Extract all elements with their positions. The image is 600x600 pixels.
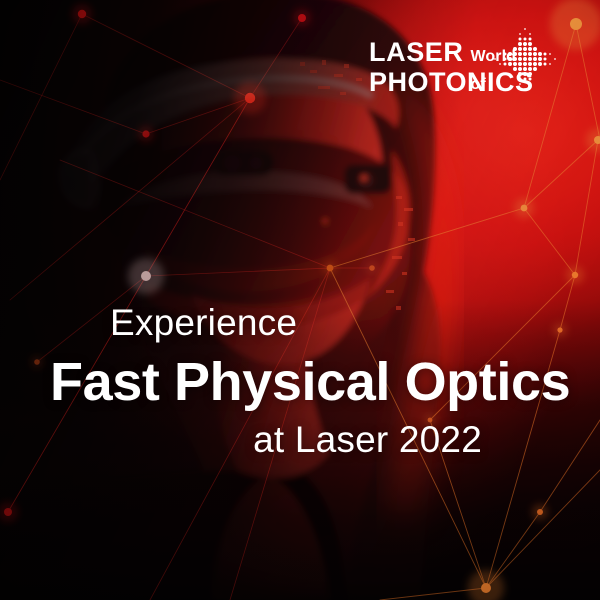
promotional-banner: LASER World of PHOTONICS Experience Fast… (0, 0, 600, 600)
headline-block: Experience Fast Physical Optics at Laser… (0, 300, 600, 464)
headline-eyebrow: Experience (0, 300, 600, 346)
dotted-cross-icon (494, 28, 556, 90)
headline-main: Fast Physical Optics (0, 350, 600, 414)
laser-world-of-photonics-logo[interactable]: LASER World of PHOTONICS (369, 38, 554, 110)
logo-text-laser: LASER (369, 38, 464, 66)
headline-subline: at Laser 2022 (0, 416, 600, 464)
